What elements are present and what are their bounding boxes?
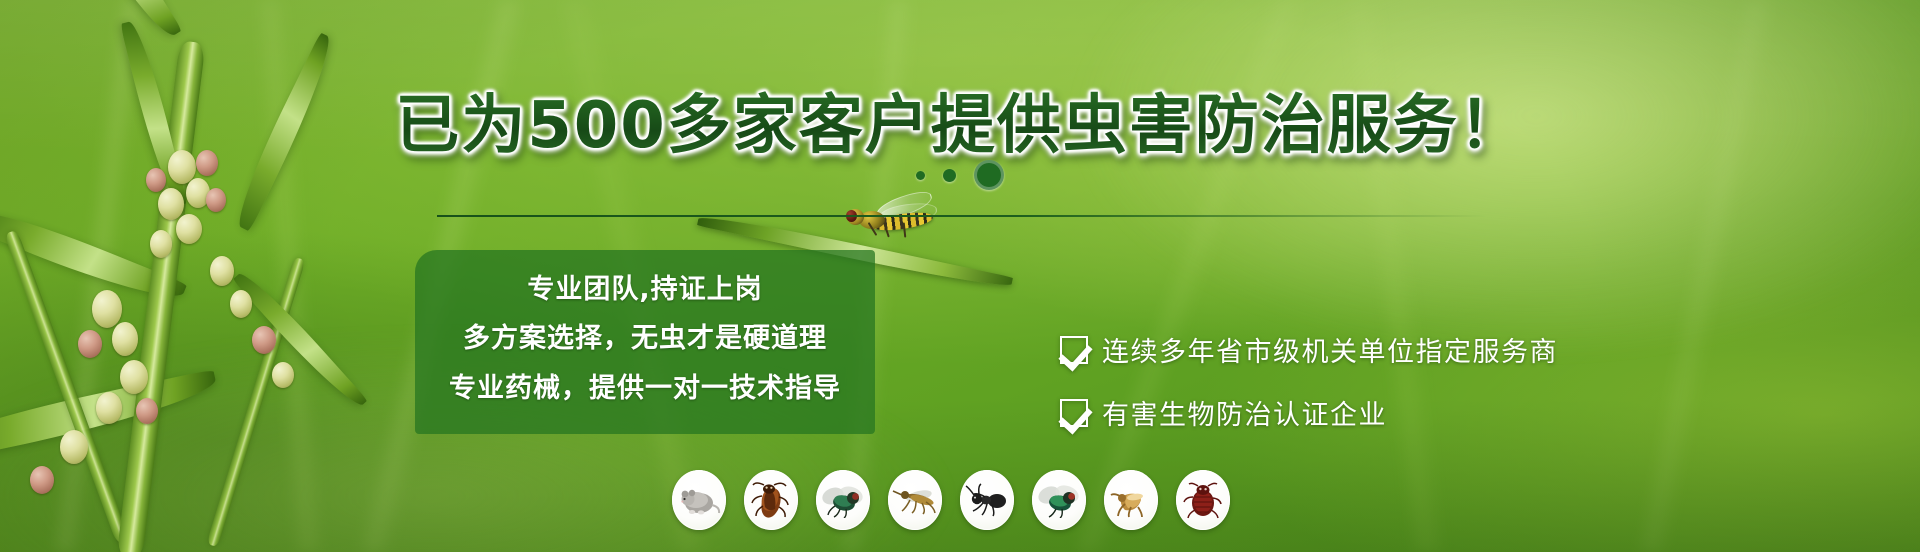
cockroach-icon [744,470,798,530]
slogan-line-2: 多方案选择，无虫才是硬道理 [441,314,849,364]
checkbox-checked-icon [1060,399,1088,427]
slogan-panel: 专业团队,持证上岗 多方案选择，无虫才是硬道理 专业药械，提供一对一技术指导 [415,250,875,434]
dot-large-icon [974,160,1004,190]
pest-control-hero-banner: 已为500多家客户提供虫害防治服务！ 专业团队,持证上岗 多方案选择，无虫才是硬… [0,0,1920,552]
ant-icon [960,470,1014,530]
headline: 已为500多家客户提供虫害防治服务！ [0,74,1920,166]
rodent-icon [672,470,726,530]
pest-icon-row [672,470,1230,530]
housefly-icon [816,470,870,530]
checkbox-checked-icon [1060,336,1088,364]
dot-medium-icon [943,169,956,182]
decorative-dots [0,160,1920,190]
bedbug-icon [1176,470,1230,530]
credentials-checklist: 连续多年省市级机关单位指定服务商 有害生物防治认证企业 [1060,330,1558,456]
headline-text: 已为500多家客户提供虫害防治服务！ [395,74,1525,166]
greenbottle-fly-icon [1032,470,1086,530]
dot-small-icon [916,171,925,180]
checklist-item-1: 连续多年省市级机关单位指定服务商 [1060,330,1558,369]
divider-line [437,215,1487,217]
mosquito-icon [888,470,942,530]
checklist-item-2: 有害生物防治认证企业 [1060,393,1558,432]
checklist-label-2: 有害生物防治认证企业 [1102,393,1387,432]
flea-icon [1104,470,1158,530]
slogan-line-1: 专业团队,持证上岗 [441,266,849,314]
checklist-label-1: 连续多年省市级机关单位指定服务商 [1102,330,1558,369]
slogan-line-3: 专业药械，提供一对一技术指导 [441,364,849,414]
